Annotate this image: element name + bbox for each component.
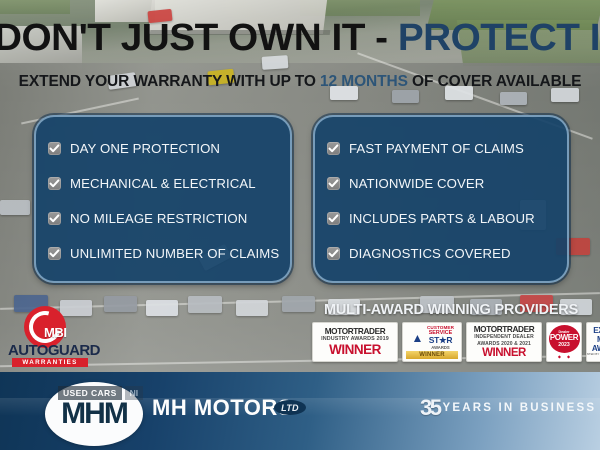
used-cars-ni-watermark: USED CARS NI bbox=[58, 386, 143, 400]
feature-item: MECHANICAL & ELECTRICAL bbox=[48, 166, 278, 201]
award-brand: MOTORTRADER bbox=[325, 327, 386, 336]
years-label: YEARS IN BUSINESS bbox=[442, 401, 596, 415]
checkmark-icon bbox=[48, 247, 61, 260]
award-line-3: ST★R bbox=[427, 336, 454, 345]
award-badge-customer-service-star: ▲ CUSTOMER SERVICE ST★R AWARDS WINNER bbox=[402, 322, 462, 362]
power-award-laurel-icon: ◆◆ bbox=[558, 354, 570, 359]
feature-item: FAST PAYMENT OF CLAIMS bbox=[327, 131, 555, 166]
award-ribbon: WINNER bbox=[406, 351, 458, 359]
award-badge-extra-mile: EXTRA MILE AWARD PRESENTED BY OUR DEALER… bbox=[586, 322, 600, 362]
autoguard-name: AUTOGUARD bbox=[8, 342, 92, 359]
checkmark-icon bbox=[327, 212, 340, 225]
checkmark-icon bbox=[48, 212, 61, 225]
award-result: WINNER bbox=[482, 347, 526, 359]
dealer-name: MH MOTORS bbox=[152, 396, 293, 420]
subheadline-highlight: 12 MONTHS bbox=[320, 73, 408, 90]
years-in-business: 35 YEARS IN BUSINESS bbox=[420, 398, 596, 418]
checkmark-icon bbox=[48, 142, 61, 155]
award-line-4: AWARDS bbox=[427, 345, 454, 350]
years-number: 35 bbox=[420, 398, 439, 418]
feature-label: DIAGNOSTICS COVERED bbox=[349, 246, 511, 261]
subheadline-after: OF COVER AVAILABLE bbox=[408, 73, 581, 90]
subheadline-before: EXTEND YOUR WARRANTY WITH UP TO bbox=[19, 73, 320, 90]
autoguard-mbi-text: MBI bbox=[44, 326, 67, 340]
checkmark-icon bbox=[327, 142, 340, 155]
motor-ombudsman-icon: ▲ bbox=[410, 330, 425, 345]
autoguard-subtitle: WARRANTIES bbox=[12, 358, 88, 367]
award-badge-motortrader-independent-dealer: MOTORTRADER INDEPENDENT DEALER AWARDS 20… bbox=[466, 322, 542, 362]
checkmark-icon bbox=[48, 177, 61, 190]
checkmark-icon bbox=[327, 177, 340, 190]
mhm-initials: MHM bbox=[61, 399, 127, 429]
autoguard-warranties-logo: MBI AUTOGUARD WARRANTIES bbox=[8, 306, 92, 368]
subheadline: EXTEND YOUR WARRANTY WITH UP TO 12 MONTH… bbox=[0, 73, 600, 91]
ltd-badge: LTD bbox=[274, 400, 306, 415]
feature-label: FAST PAYMENT OF CLAIMS bbox=[349, 141, 524, 156]
awards-title: MULTI-AWARD WINNING PROVIDERS bbox=[306, 302, 596, 318]
feature-item: UNLIMITED NUMBER OF CLAIMS bbox=[48, 236, 278, 271]
features-panel-right: FAST PAYMENT OF CLAIMS NATIONWIDE COVER … bbox=[313, 115, 569, 283]
feature-item: DIAGNOSTICS COVERED bbox=[327, 236, 555, 271]
award-line-3: 2023 bbox=[558, 342, 570, 348]
feature-item: NO MILEAGE RESTRICTION bbox=[48, 201, 278, 236]
headline: DON'T JUST OWN IT - PROTECT IT bbox=[0, 19, 600, 57]
feature-label: MECHANICAL & ELECTRICAL bbox=[70, 176, 256, 191]
award-line-2: POWER bbox=[550, 334, 578, 343]
feature-item: NATIONWIDE COVER bbox=[327, 166, 555, 201]
award-badge-power-2023: Dealer POWER 2023 ◆◆ bbox=[546, 322, 582, 362]
watermark-region-text: NI bbox=[125, 386, 144, 400]
feature-item: DAY ONE PROTECTION bbox=[48, 131, 278, 166]
feature-label: UNLIMITED NUMBER OF CLAIMS bbox=[70, 246, 279, 261]
watermark-main-text: USED CARS bbox=[58, 386, 122, 400]
feature-label: DAY ONE PROTECTION bbox=[70, 141, 220, 156]
feature-label: NATIONWIDE COVER bbox=[349, 176, 484, 191]
headline-part-2: PROTECT IT bbox=[398, 17, 600, 59]
feature-label: INCLUDES PARTS & LABOUR bbox=[349, 211, 535, 226]
feature-item: INCLUDES PARTS & LABOUR bbox=[327, 201, 555, 236]
power-award-seal-icon: Dealer POWER 2023 bbox=[549, 325, 580, 353]
award-brand: MOTORTRADER bbox=[474, 325, 535, 334]
award-result: WINNER bbox=[329, 343, 381, 357]
award-footnote: PRESENTED BY OUR DEALER PARTNERS bbox=[586, 353, 600, 357]
award-badge-motortrader-industry-2019: MOTORTRADER INDUSTRY AWARDS 2019 WINNER bbox=[312, 322, 398, 362]
warranty-promo-banner: DON'T JUST OWN IT - PROTECT IT EXTEND YO… bbox=[0, 0, 600, 450]
checkmark-icon bbox=[327, 247, 340, 260]
headline-part-1: DON'T JUST OWN IT - bbox=[0, 17, 398, 59]
awards-badge-row: MOTORTRADER INDUSTRY AWARDS 2019 WINNER … bbox=[312, 322, 600, 362]
features-panel-left: DAY ONE PROTECTION MECHANICAL & ELECTRIC… bbox=[34, 115, 292, 283]
feature-label: NO MILEAGE RESTRICTION bbox=[70, 211, 247, 226]
